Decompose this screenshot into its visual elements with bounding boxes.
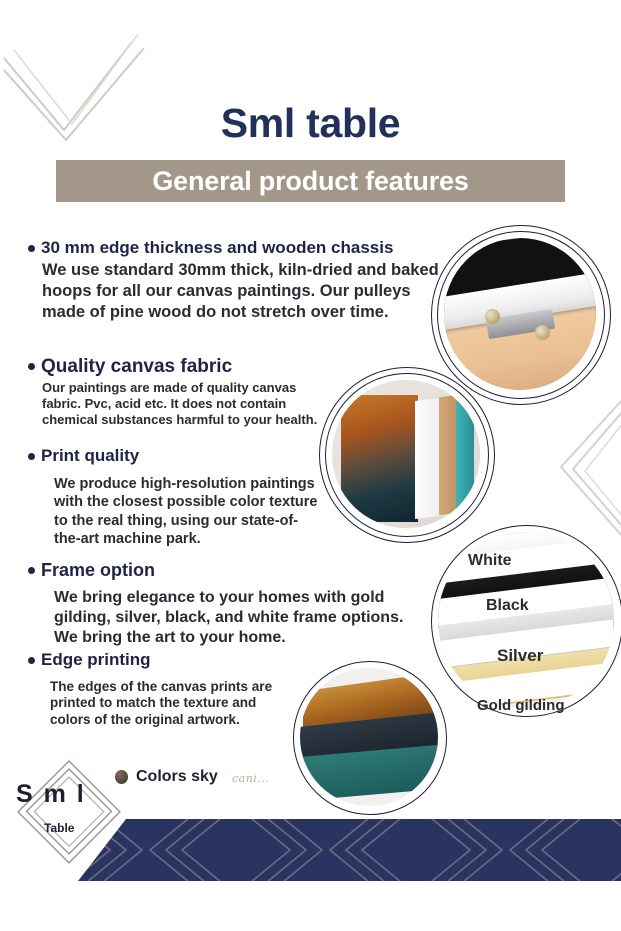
bullet-icon	[28, 363, 35, 370]
feature-heading: Frame option	[28, 560, 413, 581]
feature-heading: 30 mm edge thickness and wooden chassis	[28, 238, 448, 258]
photo-frame-options	[438, 532, 614, 708]
feature-item-edge-printing: Edge printing The edges of the canvas pr…	[28, 650, 298, 729]
product-feature-poster: Sml table General product features White…	[0, 0, 621, 931]
feature-heading: Print quality	[28, 446, 318, 466]
feature-item-print-quality: Print quality We produce high-resolution…	[28, 446, 318, 549]
subtitle-text: General product features	[56, 160, 565, 202]
feature-item-edge-thickness: 30 mm edge thickness and wooden chassis …	[28, 238, 448, 324]
photo-wooden-chassis	[444, 238, 596, 390]
feature-title: Print quality	[41, 446, 139, 466]
feature-title: 30 mm edge thickness and wooden chassis	[41, 238, 393, 258]
feature-item-canvas-fabric: Quality canvas fabric Our paintings are …	[28, 356, 328, 427]
frame-option-label-black: Black	[486, 597, 529, 615]
colors-sky-tagline: Colors sky	[136, 768, 218, 786]
frame-option-label-gold: Gold gilding	[477, 697, 564, 714]
feature-body: We bring elegance to your homes with gol…	[54, 588, 413, 649]
script-signature-mark: cani...	[232, 772, 269, 785]
brand-name: S m l	[16, 780, 86, 809]
subtitle-banner: General product features	[56, 160, 565, 202]
feature-body: Our paintings are made of quality canvas…	[42, 380, 328, 428]
brand-subtitle: Table	[44, 821, 74, 835]
feature-body: The edges of the canvas prints are print…	[50, 679, 298, 730]
feature-title: Frame option	[41, 560, 155, 581]
bullet-icon	[28, 453, 35, 460]
bullet-icon	[28, 657, 35, 664]
feature-title: Quality canvas fabric	[41, 356, 232, 378]
feature-title: Edge printing	[41, 650, 151, 670]
feature-body: We use standard 30mm thick, kiln-dried a…	[42, 260, 448, 324]
frame-option-label-silver: Silver	[497, 646, 543, 666]
feature-heading: Quality canvas fabric	[28, 356, 328, 378]
feature-item-frame-option: Frame option We bring elegance to your h…	[28, 560, 413, 649]
colors-sky-dot-icon	[115, 770, 128, 784]
chevron-decoration-right	[545, 395, 621, 545]
photo-canvas-fabric	[332, 380, 480, 528]
frame-option-label-white: White	[468, 552, 512, 570]
feature-heading: Edge printing	[28, 650, 298, 670]
bullet-icon	[28, 567, 35, 574]
feature-body: We produce high-resolution paintings wit…	[54, 475, 318, 549]
photo-edge-printing	[300, 668, 438, 806]
page-title: Sml table	[0, 100, 621, 147]
bullet-icon	[28, 245, 35, 252]
